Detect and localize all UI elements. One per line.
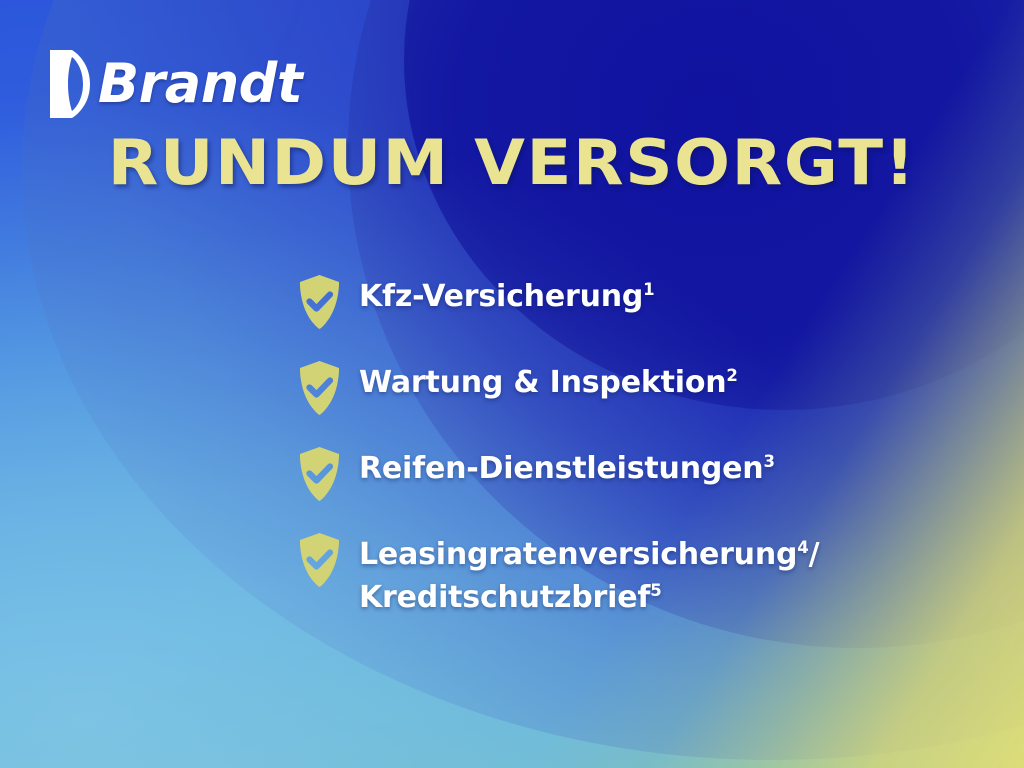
- shield-check-icon: [296, 530, 343, 588]
- benefit-label-suffix: /: [809, 537, 820, 572]
- shield-check-icon: [296, 358, 343, 416]
- benefits-list: Kfz-Versicherung1 Wartung & Inspektion2: [296, 272, 956, 619]
- footnote-marker: 2: [726, 366, 737, 385]
- list-item-label: Leasingratenversicherung4/Kreditschutzbr…: [359, 530, 819, 619]
- benefit-label-text: Leasingratenversicherung: [359, 537, 797, 572]
- shield-check-icon: [296, 444, 343, 502]
- brandt-crescent-mark-icon: [46, 48, 92, 120]
- benefit-label-text: Reifen-Dienstleistungen: [359, 451, 763, 486]
- list-item-label: Wartung & Inspektion2: [359, 358, 738, 405]
- page-title: RUNDUM VERSORGT!: [0, 132, 1024, 194]
- benefit-label-text-2: Kreditschutzbrief: [359, 580, 650, 615]
- shield-check-icon: [296, 272, 343, 330]
- footnote-marker: 4: [797, 538, 808, 557]
- list-item: Leasingratenversicherung4/Kreditschutzbr…: [296, 530, 956, 619]
- brand-wordmark: Brandt: [98, 57, 302, 111]
- brand-logo: Brandt: [46, 48, 302, 120]
- footnote-marker: 1: [643, 280, 654, 299]
- footnote-marker: 5: [650, 581, 661, 600]
- list-item-label: Kfz-Versicherung1: [359, 272, 654, 319]
- list-item: Reifen-Dienstleistungen3: [296, 444, 956, 502]
- benefit-label-line-2: Kreditschutzbrief5: [359, 577, 819, 620]
- promo-graphic: Brandt RUNDUM VERSORGT! Kfz-Versicherung…: [0, 0, 1024, 768]
- list-item-label: Reifen-Dienstleistungen3: [359, 444, 775, 491]
- list-item: Wartung & Inspektion2: [296, 358, 956, 416]
- footnote-marker: 3: [763, 452, 774, 471]
- benefit-label-text: Kfz-Versicherung: [359, 279, 643, 314]
- list-item: Kfz-Versicherung1: [296, 272, 956, 330]
- benefit-label-text: Wartung & Inspektion: [359, 365, 726, 400]
